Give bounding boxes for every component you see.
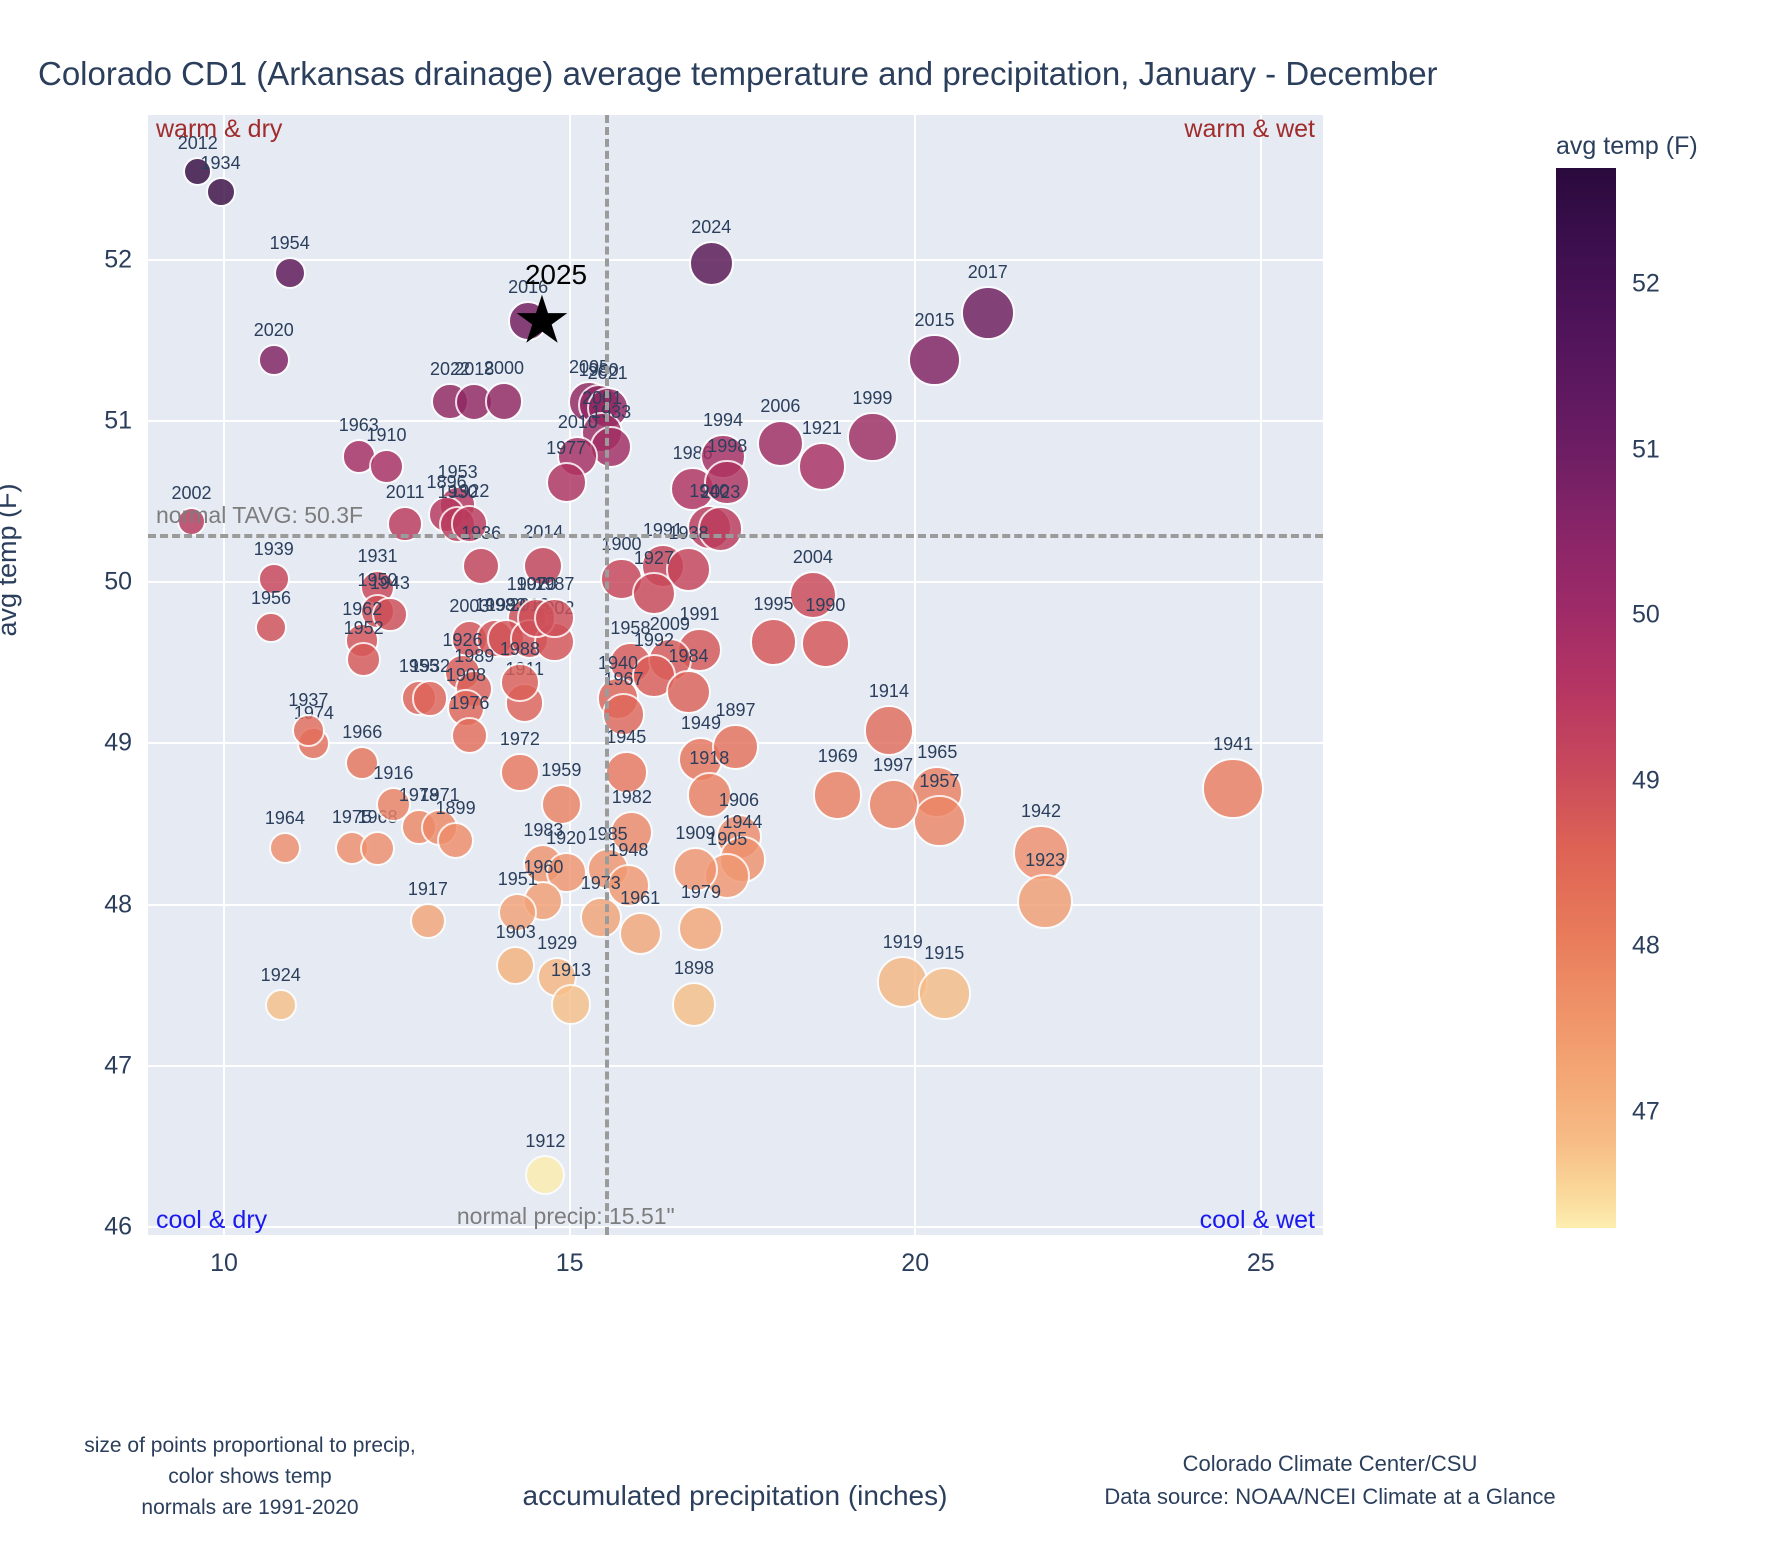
scatter-point[interactable] — [801, 619, 850, 668]
y-gridline — [148, 581, 1323, 583]
scatter-point[interactable] — [712, 724, 758, 770]
scatter-point[interactable] — [183, 157, 212, 186]
y-axis-tick: 50 — [72, 568, 132, 597]
scatter-point[interactable] — [798, 442, 847, 491]
x-axis-tick: 10 — [210, 1249, 238, 1278]
scatter-point[interactable] — [750, 618, 797, 665]
scatter-point[interactable] — [534, 598, 574, 638]
point-label: 1912 — [525, 1131, 565, 1152]
point-label: 2011 — [386, 482, 425, 503]
y-gridline — [148, 420, 1323, 422]
point-label: 1964 — [265, 808, 305, 829]
scatter-point[interactable] — [551, 984, 592, 1025]
scatter-point[interactable] — [847, 412, 897, 462]
colorbar-tick: 52 — [1632, 269, 1660, 298]
scatter-point[interactable] — [673, 847, 718, 892]
point-label: 1931 — [357, 546, 397, 567]
credit-source: Data source: NOAA/NCEI Climate at a Glan… — [1030, 1480, 1630, 1513]
x-axis-tick: 20 — [901, 1249, 929, 1278]
scatter-point[interactable] — [678, 906, 723, 951]
colorbar-tick: 51 — [1632, 435, 1660, 464]
point-label: 1995 — [753, 594, 793, 615]
y-axis-tick: 47 — [72, 1051, 132, 1080]
highlight-star-2025[interactable]: ★ — [512, 295, 571, 348]
scatter-point[interactable] — [500, 753, 539, 792]
colorbar — [1556, 168, 1616, 1228]
point-label: 1991 — [680, 604, 720, 625]
point-label: 1958 — [610, 618, 650, 639]
normal-temp-annotation: normal TAVG: 50.3F — [156, 502, 363, 529]
point-label: 1966 — [342, 722, 382, 743]
scatter-point[interactable] — [689, 241, 734, 286]
point-label: 1965 — [917, 742, 957, 763]
scatter-point[interactable] — [437, 822, 474, 859]
chart-title: Colorado CD1 (Arkansas drainage) average… — [38, 55, 1738, 93]
y-axis-tick: 51 — [72, 407, 132, 436]
note-line-1: size of points proportional to precip, — [65, 1430, 435, 1461]
scatter-point[interactable] — [274, 257, 306, 289]
scatter-point[interactable] — [451, 717, 489, 755]
y-gridline — [148, 904, 1323, 906]
scatter-point[interactable] — [698, 506, 744, 552]
normal-precip-annotation: normal precip: 15.51" — [457, 1203, 675, 1230]
scatter-point[interactable] — [666, 670, 711, 715]
point-label: 2015 — [915, 310, 955, 331]
point-label: 1999 — [852, 388, 892, 409]
scatter-point[interactable] — [206, 177, 236, 207]
colorbar-tick: 49 — [1632, 766, 1660, 795]
point-label: 1916 — [373, 763, 413, 784]
normal-precip-line — [605, 115, 609, 1235]
highlight-star-label: 2025 — [525, 259, 587, 291]
colorbar-label: avg temp (F) — [1556, 132, 1698, 161]
point-label: 1897 — [715, 700, 755, 721]
point-label: 2004 — [793, 547, 833, 568]
point-label: 1937 — [288, 690, 328, 711]
point-label: 2006 — [760, 396, 800, 417]
scatter-point[interactable] — [345, 746, 379, 780]
point-label: 1980 — [579, 360, 619, 381]
y-gridline — [148, 1226, 1323, 1228]
colorbar-tick: 50 — [1632, 601, 1660, 630]
scatter-point[interactable] — [258, 344, 290, 376]
point-label: 2003 — [449, 596, 489, 617]
x-gridline — [223, 115, 225, 1235]
point-label: 2014 — [523, 522, 563, 543]
scatter-point[interactable] — [412, 680, 449, 717]
scatter-point[interactable] — [498, 893, 537, 932]
x-axis-tick: 25 — [1247, 1249, 1275, 1278]
scatter-point[interactable] — [369, 449, 404, 484]
colorbar-tick: 47 — [1632, 1098, 1660, 1127]
point-label: 1991 — [643, 520, 683, 541]
scatter-point[interactable] — [372, 597, 407, 632]
scatter-point[interactable] — [410, 903, 446, 939]
point-label: 1917 — [408, 879, 448, 900]
quadrant-label-cool-dry: cool & dry — [156, 1206, 267, 1235]
scatter-point[interactable] — [500, 663, 539, 702]
scatter-point[interactable] — [961, 286, 1015, 340]
scatter-point[interactable] — [292, 714, 325, 747]
scatter-point[interactable] — [605, 751, 648, 794]
point-label: 1910 — [366, 425, 406, 446]
scatter-point[interactable] — [496, 946, 535, 985]
point-label: 1915 — [924, 943, 964, 964]
y-gridline — [148, 259, 1323, 261]
scatter-point[interactable] — [619, 912, 662, 955]
point-label: 1929 — [537, 933, 577, 954]
point-label: 1953 — [438, 462, 478, 483]
point-label: 1924 — [261, 965, 301, 986]
point-label: 1955 — [399, 656, 439, 677]
point-label: 1963 — [339, 415, 379, 436]
scatter-point[interactable] — [610, 811, 653, 854]
point-label: 1898 — [674, 958, 714, 979]
point-label: 2005 — [569, 357, 609, 378]
point-label: 2022 — [430, 359, 470, 380]
scatter-point[interactable] — [346, 642, 380, 676]
point-label: 2020 — [254, 320, 294, 341]
scatter-point[interactable] — [360, 831, 395, 866]
x-gridline — [914, 115, 916, 1235]
point-label: 1949 — [681, 713, 721, 734]
scatter-point[interactable] — [632, 572, 676, 616]
quadrant-label-cool-wet: cool & wet — [1200, 1206, 1315, 1235]
note-line-2: color shows temp — [65, 1461, 435, 1492]
size-color-note: size of points proportional to precip, c… — [65, 1430, 435, 1523]
scatter-point[interactable] — [868, 779, 919, 830]
quadrant-label-warm-wet: warm & wet — [1184, 115, 1315, 144]
scatter-point[interactable] — [704, 460, 750, 506]
point-label: 1969 — [818, 746, 858, 767]
point-label: 2017 — [968, 262, 1008, 283]
scatter-point[interactable] — [265, 989, 297, 1021]
x-axis-label: accumulated precipitation (inches) — [523, 1480, 948, 1512]
point-label: 2002 — [172, 483, 212, 504]
normal-temp-line — [148, 534, 1323, 538]
scatter-point[interactable] — [908, 334, 960, 386]
scatter-point[interactable] — [1017, 874, 1073, 930]
point-label: 1971 — [420, 785, 460, 806]
note-line-3: normals are 1991-2020 — [65, 1492, 435, 1523]
scatter-point[interactable] — [813, 770, 862, 819]
scatter-point[interactable] — [672, 982, 717, 1027]
point-label: 1975 — [332, 807, 372, 828]
point-label: 1919 — [883, 932, 923, 953]
point-label: 2009 — [650, 614, 690, 635]
point-label: 2000 — [484, 358, 524, 379]
x-gridline — [1260, 115, 1262, 1235]
scatter-point[interactable] — [258, 563, 290, 595]
scatter-point[interactable] — [580, 897, 622, 939]
x-axis-tick: 15 — [556, 1249, 584, 1278]
scatter-point[interactable] — [541, 784, 582, 825]
y-axis-tick: 49 — [72, 729, 132, 758]
point-label: 1914 — [869, 681, 909, 702]
scatter-point[interactable] — [757, 420, 804, 467]
point-label: 2018 — [454, 359, 494, 380]
scatter-point[interactable] — [525, 1155, 565, 1195]
y-axis-label: avg temp (F) — [0, 483, 23, 636]
quadrant-label-warm-dry: warm & dry — [156, 115, 282, 144]
point-label: 1959 — [541, 760, 581, 781]
y-gridline — [148, 1065, 1323, 1067]
point-label: 2024 — [691, 217, 731, 238]
scatter-point[interactable] — [864, 705, 915, 756]
y-axis-tick: 52 — [72, 246, 132, 275]
scatter-point[interactable] — [1202, 758, 1264, 820]
scatter-point[interactable] — [546, 462, 587, 503]
scatter-point[interactable] — [255, 612, 287, 644]
credits: Colorado Climate Center/CSU Data source:… — [1030, 1447, 1630, 1513]
credit-org: Colorado Climate Center/CSU — [1030, 1447, 1630, 1480]
scatter-point[interactable] — [269, 832, 301, 864]
scatter-point[interactable] — [462, 547, 500, 585]
scatter-point[interactable] — [1013, 825, 1069, 881]
point-label: 1909 — [675, 823, 715, 844]
scatter-point[interactable] — [485, 382, 524, 421]
scatter-point[interactable] — [523, 546, 563, 586]
y-axis-tick: 46 — [72, 1212, 132, 1241]
point-label: 1942 — [1021, 801, 1061, 822]
colorbar-tick: 48 — [1632, 932, 1660, 961]
scatter-point[interactable] — [687, 772, 732, 817]
point-label: 1954 — [270, 233, 310, 254]
plot-area: 2012193419542020200220162022201820002005… — [148, 115, 1323, 1235]
scatter-point[interactable] — [913, 795, 965, 847]
point-label: 1997 — [873, 755, 913, 776]
y-axis-tick: 48 — [72, 890, 132, 919]
point-label: 1939 — [254, 539, 294, 560]
point-label: 1972 — [500, 729, 540, 750]
scatter-point[interactable] — [918, 967, 971, 1020]
scatter-point[interactable] — [789, 571, 837, 619]
